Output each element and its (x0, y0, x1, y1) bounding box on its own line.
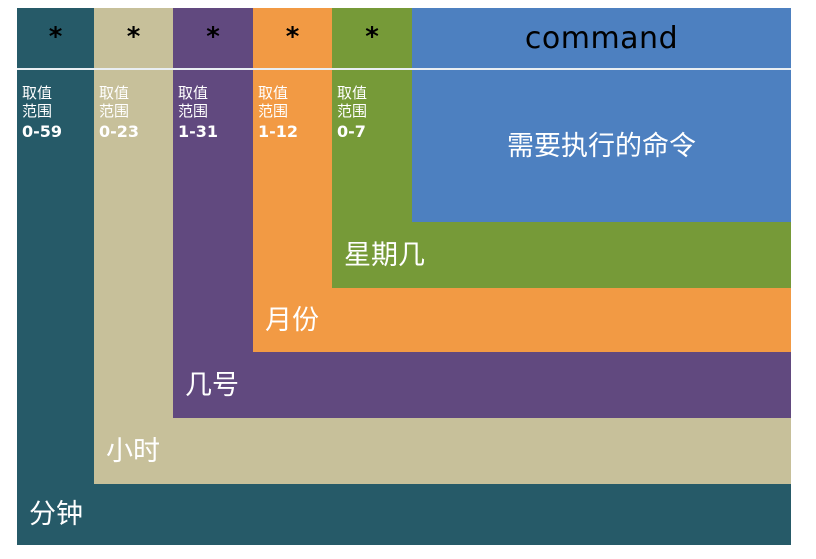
range-day-of-week-line2: 范围 (332, 102, 412, 120)
header-cell-day-of-week[interactable]: * (332, 8, 412, 68)
command-description-label: 需要执行的命令 (507, 133, 696, 160)
range-hour-value: 0-23 (94, 122, 173, 142)
range-minute-line1: 取值 (17, 84, 94, 102)
range-month-line1: 取值 (253, 84, 332, 102)
band-hour: 小时 (94, 418, 791, 484)
command-header-label: command (525, 21, 678, 56)
band-day-of-week-label: 星期几 (332, 242, 425, 269)
asterisk-icon-month: * (286, 24, 300, 50)
band-minute: 分钟 (17, 484, 791, 545)
asterisk-icon-hour: * (127, 24, 141, 50)
band-minute-label: 分钟 (17, 501, 83, 528)
band-month-label: 月份 (253, 307, 319, 334)
header-cell-hour[interactable]: * (94, 8, 173, 68)
range-hour: 取值 范围 0-23 (94, 76, 173, 186)
band-month: 月份 (253, 288, 791, 352)
range-day-of-month-line1: 取值 (173, 84, 253, 102)
range-day-of-week-line1: 取值 (332, 84, 412, 102)
header-cell-day-of-month[interactable]: * (173, 8, 253, 68)
range-minute-value: 0-59 (17, 122, 94, 142)
asterisk-icon-minute: * (49, 24, 63, 50)
range-minute: 取值 范围 0-59 (17, 76, 94, 186)
range-month-line2: 范围 (253, 102, 332, 120)
band-day-of-week: 星期几 (332, 222, 791, 288)
band-day-of-month-label: 几号 (173, 372, 239, 399)
range-day-of-month-line2: 范围 (173, 102, 253, 120)
band-hour-label: 小时 (94, 438, 160, 465)
header-cell-command[interactable]: command (412, 8, 791, 68)
range-hour-line1: 取值 (94, 84, 173, 102)
range-hour-line2: 范围 (94, 102, 173, 120)
range-day-of-week-value: 0-7 (332, 122, 412, 142)
range-day-of-week: 取值 范围 0-7 (332, 76, 412, 186)
asterisk-icon-day-of-month: * (206, 24, 220, 50)
range-month: 取值 范围 1-12 (253, 76, 332, 186)
header-separator-rule (17, 68, 791, 70)
range-day-of-month: 取值 范围 1-31 (173, 76, 253, 186)
header-cell-minute[interactable]: * (17, 8, 94, 68)
header-cell-month[interactable]: * (253, 8, 332, 68)
band-day-of-month: 几号 (173, 352, 791, 418)
asterisk-icon-day-of-week: * (365, 24, 379, 50)
command-description-block: 需要执行的命令 (412, 70, 791, 222)
range-month-value: 1-12 (253, 122, 332, 142)
range-minute-line2: 范围 (17, 102, 94, 120)
cron-syntax-diagram: 分钟 小时 几号 月份 星期几 需要执行的命令 取值 范围 0-59 取值 范围… (0, 0, 816, 559)
range-day-of-month-value: 1-31 (173, 122, 253, 142)
